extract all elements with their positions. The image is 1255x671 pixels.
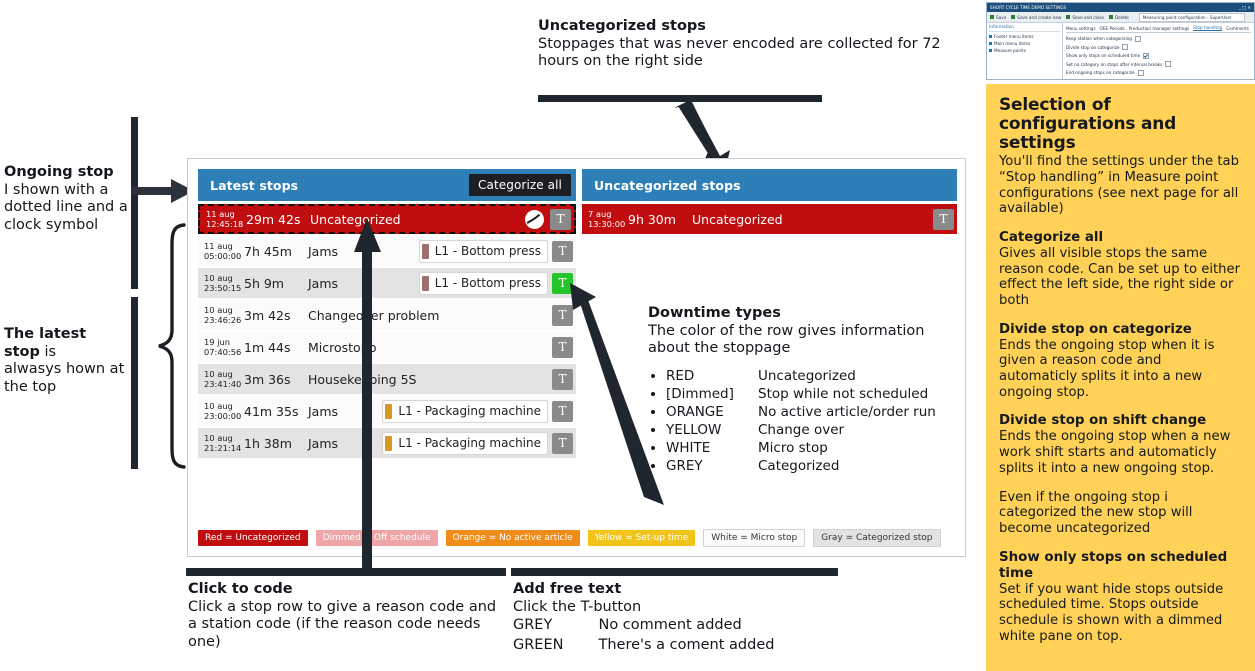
categorize-all-button[interactable]: Categorize all (469, 174, 571, 196)
thumbnail-tab[interactable]: Menu settings (1066, 26, 1096, 31)
downtime-type-value: No active article/order run (758, 404, 936, 420)
thumbnail-titlebar: SHORT CYCLE TIME DEMO SETTINGS _ □ ✕ (987, 3, 1254, 12)
annotation-latest-stop-heading: The latest stop is (4, 326, 132, 361)
uncategorized-stops-panel: Uncategorized stops 7 aug13:30:009h 30mU… (582, 169, 957, 236)
annotation-click-to-code-body: Click a stop row to give a reason code a… (188, 599, 508, 652)
free-text-legend-row: GREYNo comment added (513, 616, 775, 636)
station-label: L1 - Packaging machine (398, 436, 541, 450)
annotation-add-free-text-heading: Add free text (513, 581, 853, 599)
downtime-type-key: GREY (666, 458, 758, 476)
annotation-add-free-text-body: Click the T-button (513, 599, 853, 617)
annotation-uncategorized-stops: Uncategorized stops Stoppages that was n… (538, 18, 968, 71)
annotation-click-to-code-heading: Click to code (188, 581, 508, 599)
latest-stops-panel: Latest stops Categorize all 11 aug12:45:… (198, 169, 576, 460)
table-row[interactable]: 19 jun07:40:561m 44sMicrostoppT (198, 332, 576, 362)
nav-bullet-icon (989, 42, 992, 45)
table-row[interactable]: 11 aug12:45:1829m 42sUncategorizedT (198, 204, 576, 234)
sidebar-section-body: Even if the ongoing stop i categorized t… (999, 490, 1242, 537)
brace-latest-stops (143, 222, 189, 470)
downtime-type-value: Uncategorized (758, 368, 856, 384)
row-timestamp: 10 aug23:41:40 (198, 369, 244, 390)
annotation-downtime-types: Downtime types The color of the row give… (648, 305, 968, 476)
free-text-value: There's a coment added (597, 636, 775, 656)
sidebar-spacer (999, 309, 1242, 322)
station-color-swatch (422, 244, 429, 259)
annotation-latest-stop-body: alwasys hown at the top (4, 361, 132, 396)
toolbar-icon (1066, 15, 1070, 19)
annotation-click-to-code: Click to code Click a stop row to give a… (188, 581, 508, 652)
thumbnail-toolbar-item[interactable]: Delete (1109, 15, 1129, 20)
thumbnail-tab[interactable]: Production manager settings (1129, 26, 1189, 31)
row-station-chip[interactable]: L1 - Bottom press (419, 272, 548, 295)
row-timestamp: 10 aug21:21:14 (198, 433, 244, 454)
settings-window-thumbnail[interactable]: SHORT CYCLE TIME DEMO SETTINGS _ □ ✕ Sav… (986, 2, 1255, 80)
sidebar-section-body: Ends the ongoing stop when it is given a… (999, 338, 1242, 401)
thumbnail-toolbar-items: SaveSave and create newSave and closeDel… (990, 15, 1134, 20)
downtime-type-value: Stop while not scheduled (758, 386, 928, 402)
downtime-type-item: YELLOWChange over (666, 422, 968, 440)
checkbox-label: Divide stop on categorize (1066, 45, 1119, 50)
downtime-type-value: Categorized (758, 458, 839, 474)
downtime-type-key: YELLOW (666, 422, 758, 440)
arrow-to-ongoing-row (131, 178, 195, 204)
thumbnail-nav-item[interactable]: Main menu items (989, 41, 1060, 46)
row-timestamp: 11 aug12:45:18 (200, 209, 246, 230)
thumbnail-checkbox-row[interactable]: End ongoing stops on categorize (1066, 70, 1251, 76)
toolbar-icon (1011, 15, 1015, 19)
downtime-type-key: ORANGE (666, 404, 758, 422)
sidebar-sections: Categorize allGives all visible stops th… (999, 217, 1242, 644)
sidebar-intro: You'll find the settings under the tab “… (999, 154, 1242, 217)
annotation-latest-stop-heading-a: The latest (4, 326, 86, 342)
sidebar-spacer (999, 400, 1242, 413)
downtime-type-item: [Dimmed]Stop while not scheduled (666, 386, 968, 404)
thumbnail-tab[interactable]: Stop handling (1193, 25, 1222, 31)
downtime-type-item: WHITEMicro stop (666, 440, 968, 458)
annotation-add-free-text: Add free text Click the T-button GREYNo … (513, 581, 853, 656)
row-timestamp: 10 aug23:50:15 (198, 273, 244, 294)
annotation-downtime-types-body: The color of the row gives information a… (648, 323, 968, 358)
sidebar-spacer (999, 477, 1242, 490)
row-duration: 9h 30m (628, 212, 690, 227)
free-text-t-button[interactable]: T (552, 241, 573, 262)
thumbnail-checkbox-list: Keep station when categorizingDivide sto… (1066, 36, 1251, 76)
checkbox-input[interactable] (1143, 53, 1149, 59)
sidebar-spacer (999, 217, 1242, 230)
sidebar-title: Selection of configurations and settings (999, 96, 1242, 153)
thumbnail-content: Menu settingsOEE PeriodsProduction manag… (1063, 23, 1254, 80)
checkbox-label: Keep station when categorizing (1066, 36, 1132, 41)
downtime-legend: Red = UncategorizedDimmed = Off schedule… (198, 529, 957, 547)
thumbnail-nav-header: Information (989, 25, 1060, 32)
table-row[interactable]: 11 aug05:00:007h 45mJamsL1 - Bottom pres… (198, 236, 576, 266)
row-duration: 1m 44s (244, 340, 306, 355)
row-timestamp: 10 aug23:00:00 (198, 401, 244, 422)
free-text-key: GREY (513, 616, 597, 636)
table-row[interactable]: 10 aug21:21:141h 38mJamsL1 - Packaging m… (198, 428, 576, 458)
clock-icon (525, 210, 544, 229)
checkbox-label: Set no category on stops after interval … (1066, 62, 1162, 67)
latest-stops-title: Latest stops (210, 178, 298, 193)
table-row[interactable]: 10 aug23:46:263m 42sChangeover problemT (198, 300, 576, 330)
thumbnail-tab[interactable]: Comments (1226, 26, 1249, 31)
annotation-latest-stop: The latest stop is alwasys hown at the t… (4, 326, 132, 397)
row-duration: 3m 36s (244, 372, 306, 387)
nav-item-label: Footer menu items (994, 34, 1034, 39)
sidebar-section-heading: Divide stop on categorize (999, 322, 1242, 338)
thumbnail-toolbar-item[interactable]: Save (990, 15, 1006, 20)
downtime-type-key: WHITE (666, 440, 758, 458)
latest-stops-header: Latest stops Categorize all (198, 169, 576, 201)
downtime-type-item: ORANGENo active article/order run (666, 404, 968, 422)
row-timestamp: 19 jun07:40:56 (198, 337, 244, 358)
thumbnail-checkbox-row[interactable]: Keep station when categorizing (1066, 36, 1251, 42)
nav-item-label: Main menu items (994, 41, 1030, 46)
checkbox-input[interactable] (1165, 61, 1171, 67)
row-duration: 1h 38m (244, 436, 306, 451)
thumbnail-toolbar-item[interactable]: Save and create new (1011, 15, 1061, 20)
row-reason-code: Housekeeping 5S (306, 372, 552, 387)
free-text-value: No comment added (597, 616, 775, 636)
row-duration: 41m 35s (244, 404, 306, 419)
legend-chip: White = Micro stop (703, 529, 805, 547)
annotation-rule-add-free-text (511, 568, 838, 576)
annotation-downtime-types-heading: Downtime types (648, 305, 968, 323)
free-text-t-button[interactable]: T (933, 209, 954, 230)
row-reason-code: Microstopp (306, 340, 552, 355)
latest-stops-row-list: 11 aug12:45:1829m 42sUncategorizedT11 au… (198, 204, 576, 458)
station-label: L1 - Bottom press (435, 276, 541, 290)
annotation-ongoing-stop-heading: Ongoing stop (4, 164, 129, 182)
sidebar-section-heading: Show only stops on scheduled time (999, 550, 1242, 582)
downtime-types-list: REDUncategorized[Dimmed]Stop while not s… (648, 368, 968, 476)
checkbox-label: End ongoing stops on categorize (1066, 70, 1135, 75)
row-reason-code: Uncategorized (690, 212, 933, 227)
thumbnail-checkbox-row[interactable]: Show only stops on scheduled time (1066, 53, 1251, 59)
add-free-text-table: GREYNo comment addedGREENThere's a comen… (513, 616, 775, 655)
checkbox-input[interactable] (1138, 70, 1144, 76)
annotation-latest-stop-inline: is (40, 344, 56, 360)
nav-item-label: Measure points (994, 48, 1026, 53)
station-color-swatch (385, 404, 392, 419)
thumbnail-nav-item[interactable]: Measure points (989, 48, 1060, 53)
row-timestamp: 10 aug23:46:26 (198, 305, 244, 326)
annotation-latest-stop-heading-b: stop (4, 344, 40, 360)
row-station-chip[interactable]: L1 - Bottom press (419, 240, 548, 263)
row-reason-code: Changeover problem (306, 308, 552, 323)
row-duration: 5h 9m (244, 276, 306, 291)
thumbnail-nav-items: Footer menu itemsMain menu itemsMeasure … (989, 34, 1060, 53)
annotation-ongoing-stop-body: I shown with a dotted line and a clock s… (4, 182, 129, 235)
sidebar-section-heading: Divide stop on shift change (999, 413, 1242, 429)
free-text-legend-row: GREENThere's a coment added (513, 636, 775, 656)
arrow-to-tbutton (548, 283, 673, 508)
annotation-uncategorized-stops-body: Stoppages that was never encoded are col… (538, 36, 968, 71)
uncategorized-stops-header: Uncategorized stops (582, 169, 957, 201)
sidebar-spacer (999, 537, 1242, 550)
station-color-swatch (422, 276, 429, 291)
table-row[interactable]: 7 aug13:30:009h 30mUncategorizedT (582, 204, 957, 234)
station-color-swatch (385, 436, 392, 451)
row-duration: 7h 45m (244, 244, 306, 259)
annotation-uncategorized-stops-heading: Uncategorized stops (538, 18, 968, 36)
downtime-type-item: GREYCategorized (666, 458, 968, 476)
thumbnail-tabs: Menu settingsOEE PeriodsProduction manag… (1066, 25, 1251, 33)
thumbnail-window-buttons[interactable]: _ □ ✕ (1239, 5, 1251, 10)
table-row[interactable]: 10 aug23:50:155h 9mJamsL1 - Bottom press… (198, 268, 576, 298)
thumbnail-tab[interactable]: OEE Periods (1100, 26, 1125, 31)
thumbnail-nav: Information Footer menu itemsMain menu i… (987, 23, 1063, 80)
legend-chip: Yellow = Set-up time (588, 530, 696, 546)
table-row[interactable]: 10 aug23:41:403m 36sHousekeeping 5ST (198, 364, 576, 394)
row-timestamp: 11 aug05:00:00 (198, 241, 244, 262)
row-timestamp: 7 aug13:30:00 (582, 209, 628, 230)
row-duration: 3m 42s (244, 308, 306, 323)
row-station-chip[interactable]: L1 - Packaging machine (382, 432, 548, 455)
downtime-type-key: [Dimmed] (666, 386, 758, 404)
row-station-chip[interactable]: L1 - Packaging machine (382, 400, 548, 423)
downtime-type-item: REDUncategorized (666, 368, 968, 386)
thumbnail-toolbar-item[interactable]: Save and close (1066, 15, 1104, 20)
thumbnail-config-combo[interactable]: Measuring point configuration - SuperUse… (1139, 13, 1245, 22)
downtime-type-value: Change over (758, 422, 844, 438)
row-reason-code: Uncategorized (308, 212, 525, 227)
free-text-t-button[interactable]: T (550, 209, 571, 230)
configuration-sidebar: Selection of configurations and settings… (986, 84, 1255, 671)
free-text-key: GREEN (513, 636, 597, 656)
checkbox-input[interactable] (1122, 44, 1128, 50)
checkbox-label: Show only stops on scheduled time (1066, 53, 1140, 58)
sidebar-section-body: Gives all visible stops the same reason … (999, 246, 1242, 309)
annotation-ongoing-stop: Ongoing stop I shown with a dotted line … (4, 164, 129, 235)
thumbnail-toolbar: SaveSave and create newSave and closeDel… (987, 12, 1254, 23)
uncategorized-stops-title: Uncategorized stops (594, 178, 741, 193)
arrow-to-stop-row (352, 218, 384, 570)
thumbnail-checkbox-row[interactable]: Set no category on stops after interval … (1066, 61, 1251, 67)
annotation-rule-latest (131, 297, 138, 469)
station-label: L1 - Bottom press (435, 244, 541, 258)
thumbnail-nav-item[interactable]: Footer menu items (989, 34, 1060, 39)
legend-chip: Red = Uncategorized (198, 530, 308, 546)
sidebar-section-body: Set if you want hide stops outside sched… (999, 582, 1242, 645)
nav-bullet-icon (989, 35, 992, 38)
downtime-type-key: RED (666, 368, 758, 386)
table-row[interactable]: 10 aug23:00:0041m 35sJamsL1 - Packaging … (198, 396, 576, 426)
uncategorized-stops-row-list: 7 aug13:30:009h 30mUncategorizedT (582, 204, 957, 234)
checkbox-input[interactable] (1135, 36, 1141, 42)
row-duration: 29m 42s (246, 212, 308, 227)
downtime-type-value: Micro stop (758, 440, 828, 456)
legend-chip: Orange = No active article (446, 530, 580, 546)
toolbar-icon (990, 15, 994, 19)
legend-chip: Gray = Categorized stop (813, 529, 940, 547)
thumbnail-window-title: SHORT CYCLE TIME DEMO SETTINGS (990, 5, 1066, 10)
toolbar-icon (1109, 15, 1113, 19)
nav-bullet-icon (989, 49, 992, 52)
annotation-rule-click-to-code (186, 568, 506, 576)
thumbnail-checkbox-row[interactable]: Divide stop on categorize (1066, 44, 1251, 50)
sidebar-section-body: Ends the ongoing stop when a new work sh… (999, 429, 1242, 476)
sidebar-section-heading: Categorize all (999, 230, 1242, 246)
thumbnail-body: Information Footer menu itemsMain menu i… (987, 23, 1254, 80)
station-label: L1 - Packaging machine (398, 404, 541, 418)
